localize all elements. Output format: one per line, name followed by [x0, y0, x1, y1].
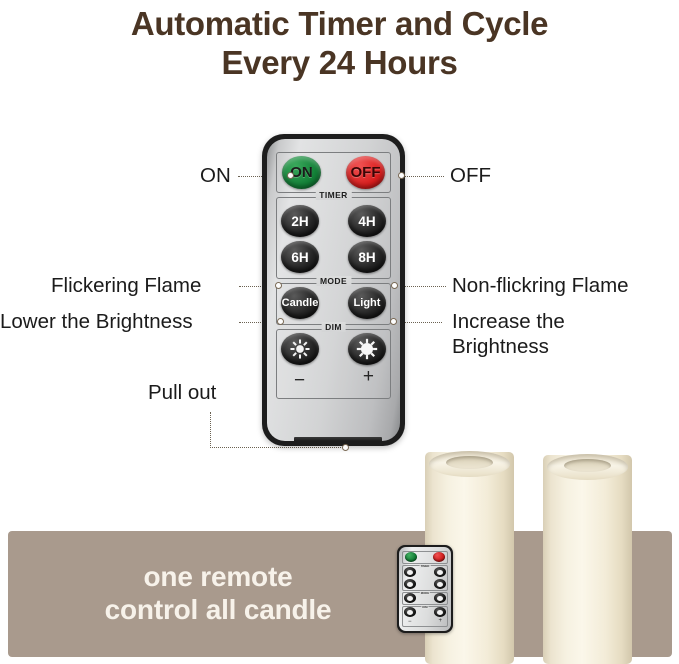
thumb-power-on-button: [405, 552, 417, 562]
candle-right: [543, 455, 632, 664]
page-title-line-1: Automatic Timer and Cycle: [131, 5, 548, 42]
thumb-dim-minus: −: [408, 619, 412, 625]
banner-text: one remote control all candle: [8, 560, 428, 626]
callout-on: ON: [200, 163, 231, 188]
thumb-dim-plus: +: [438, 618, 442, 624]
remote-control-thumbnail: TIMER MODE DIM − +: [397, 545, 453, 633]
remote-control[interactable]: ON OFF TIMER 2H 4H 6H 8H MODE Candle Lig…: [262, 134, 405, 446]
remote-thumbnail-face: TIMER MODE DIM − +: [399, 547, 451, 631]
banner-line-1: one remote: [8, 560, 428, 593]
thumb-mode-light: [434, 593, 446, 603]
timer-2h-button[interactable]: 2H: [281, 205, 319, 237]
candle-right-body: [543, 455, 632, 664]
dim-plus-symbol: +: [363, 367, 374, 386]
marker-increase-brightness: [390, 318, 397, 325]
section-dim-label: DIM: [321, 322, 346, 332]
marker-lower-brightness: [277, 318, 284, 325]
thumb-timer-4h: [434, 567, 446, 577]
marker-non-flickering: [391, 282, 398, 289]
thumb-timer-6h: [404, 579, 416, 589]
thumb-power-off-button: [433, 552, 445, 562]
leader-pull-out-vertical: [210, 412, 211, 448]
timer-4h-button[interactable]: 4H: [348, 205, 386, 237]
battery-pull-tab[interactable]: [294, 437, 382, 441]
marker-on: [287, 172, 294, 179]
section-mode-label: MODE: [316, 276, 351, 286]
thumb-dim-up: [434, 607, 446, 617]
marker-pull-out: [342, 444, 349, 451]
dim-up-button[interactable]: [348, 333, 386, 365]
callout-flickering-flame: Flickering Flame: [51, 273, 201, 298]
banner-line-2: control all candle: [8, 593, 428, 626]
thumb-timer-8h: [434, 579, 446, 589]
dim-minus-symbol: −: [294, 371, 305, 390]
page-title-line-2: Every 24 Hours: [0, 43, 679, 82]
leader-pull-out-horizontal: [210, 447, 345, 448]
sun-dim-icon: [289, 338, 311, 360]
callout-increase-brightness: Increase the Brightness: [452, 309, 612, 359]
callout-lower-brightness: Lower the Brightness: [0, 309, 193, 334]
section-timer-label: TIMER: [315, 190, 351, 200]
timer-8h-button[interactable]: 8H: [348, 241, 386, 273]
thumb-section-timer-label: TIMER: [420, 564, 431, 568]
thumb-mode-candle: [404, 593, 416, 603]
sun-bright-icon: [356, 338, 378, 360]
power-off-button[interactable]: OFF: [346, 156, 385, 189]
marker-flickering: [275, 282, 282, 289]
thumb-dim-down: [404, 607, 416, 617]
thumb-section-mode-label: MODE: [420, 591, 430, 595]
callout-pull-out: Pull out: [148, 380, 216, 405]
callout-non-flickering-flame: Non-flickring Flame: [452, 273, 629, 298]
candle-left-wick-well: [446, 456, 492, 469]
timer-6h-button[interactable]: 6H: [281, 241, 319, 273]
candle-right-wick-well: [564, 459, 610, 472]
dim-down-button[interactable]: [281, 333, 319, 365]
callout-off: OFF: [450, 163, 491, 188]
marker-off: [398, 172, 405, 179]
mode-light-button[interactable]: Light: [348, 287, 386, 319]
remote-face: ON OFF TIMER 2H 4H 6H 8H MODE Candle Lig…: [267, 139, 400, 441]
thumb-timer-2h: [404, 567, 416, 577]
mode-candle-button[interactable]: Candle: [281, 287, 319, 319]
page-title: Automatic Timer and Cycle Every 24 Hours: [0, 0, 679, 82]
leader-off: [404, 176, 444, 177]
thumb-section-dim-label: DIM: [421, 605, 428, 609]
